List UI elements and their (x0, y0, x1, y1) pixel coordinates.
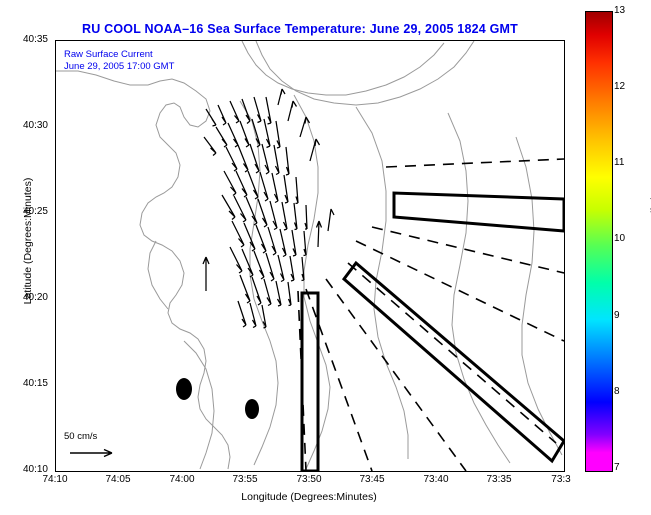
x-tick-7: 73:35 (469, 474, 529, 485)
figure-root: RU COOL NOAA–16 Sea Surface Temperature:… (0, 0, 651, 515)
x-tick-6: 73:40 (406, 474, 466, 485)
annotation-line-1: Raw Surface Current (64, 49, 153, 61)
colorbar-tick-4: 9 (614, 310, 644, 321)
annotation-line-2: June 29, 2005 17:00 GMT (64, 61, 174, 73)
x-tick-5: 73:45 (342, 474, 402, 485)
scale-arrow (70, 450, 112, 457)
x-tick-1: 74:05 (88, 474, 148, 485)
y-tick-4: 40:15 (0, 378, 48, 389)
shipping-lane-lower (344, 263, 564, 461)
colorbar-tick-6: 7 (614, 462, 644, 473)
scalebar-label: 50 cm/s (64, 431, 97, 442)
x-tick-3: 73:55 (215, 474, 275, 485)
y-tick-0: 40:35 (0, 34, 48, 45)
x-tick-0: 74:10 (25, 474, 85, 485)
x-axis-label: Longitude (Degrees:Minutes) (55, 491, 563, 503)
shipping-lane-upper (394, 193, 564, 231)
colorbar (585, 11, 613, 472)
x-tick-2: 74:00 (152, 474, 212, 485)
chart-title: RU COOL NOAA–16 Sea Surface Temperature:… (0, 22, 600, 36)
colorbar-tick-3: 10 (614, 233, 644, 244)
x-tick-4: 73:50 (279, 474, 339, 485)
colorbar-tick-1: 12 (614, 81, 644, 92)
map-plot-area[interactable]: Raw Surface Current June 29, 2005 17:00 … (55, 40, 565, 472)
colorbar-tick-2: 11 (614, 157, 644, 168)
colorbar-tick-0: 13 (614, 5, 644, 16)
radar-site-marker (245, 399, 259, 419)
colorbar-tick-5: 8 (614, 386, 644, 397)
map-overlays (56, 41, 564, 471)
x-tick-8: 73:3 (531, 474, 591, 485)
y-axis-label: Latitude (Degrees:Minutes) (22, 121, 34, 361)
radar-site-marker (176, 378, 192, 400)
